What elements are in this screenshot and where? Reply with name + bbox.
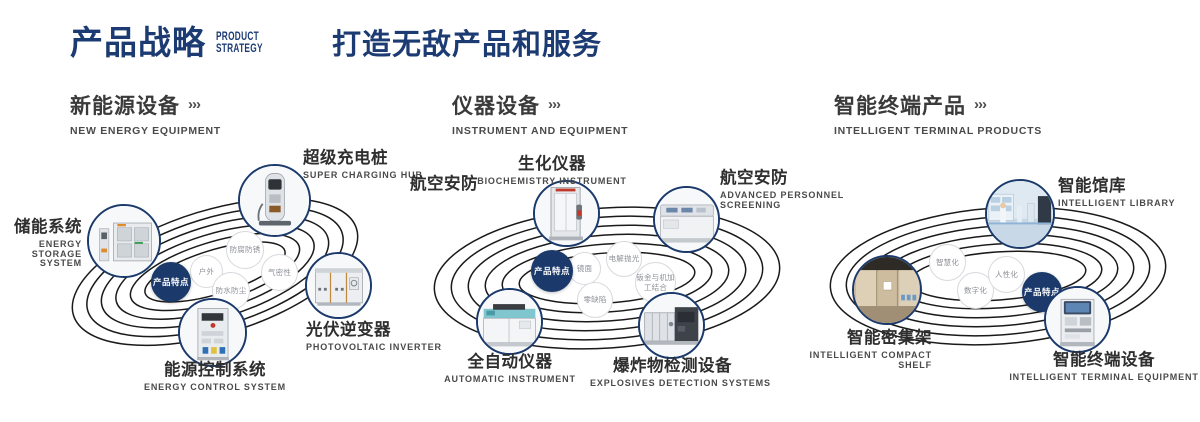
node-label-biochemistry-instrument: 生化仪器 BIOCHEMISTRY INSTRUMENT xyxy=(462,156,642,187)
node-label-en: AUTOMATIC INSTRUMENT xyxy=(430,375,590,385)
node-label-en: INTELLIGENT LIBRARY xyxy=(1058,199,1200,209)
compact-shelving-icon xyxy=(854,257,920,323)
product-strategy-infographic: 产品战略 PRODUCT STRATEGY 打造无敌产品和服务 新能源设备›››… xyxy=(0,0,1200,422)
core-chip: 产品特点 xyxy=(531,250,573,292)
node-label-en: ENERGY CONTROL SYSTEM xyxy=(135,383,295,393)
node-automatic-instrument[interactable] xyxy=(476,288,543,355)
feature-chip: 智慧化 xyxy=(929,244,966,281)
feature-chip: 零缺陷 xyxy=(577,282,613,318)
feature-chip-label: 防水防尘 xyxy=(216,286,247,295)
node-label-cn: 全自动仪器 xyxy=(430,354,590,372)
feature-chip-label: 智慧化 xyxy=(936,258,959,267)
feature-chip-label: 人性化 xyxy=(995,270,1018,279)
security-scanner-gate-icon xyxy=(535,182,598,245)
node-label-intelligent-library: 智能馆库 INTELLIGENT LIBRARY xyxy=(1058,178,1200,209)
feature-chip-label: 气密性 xyxy=(268,268,291,277)
feature-chip: 人性化 xyxy=(988,256,1025,293)
node-label-en: INTELLIGENT TERMINAL EQUIPMENT xyxy=(1008,373,1200,383)
node-energy-storage[interactable] xyxy=(87,204,161,278)
node-label-cn: 智能密集架 xyxy=(790,330,932,348)
node-label-energy-control-system: 能源控制系统 ENERGY CONTROL SYSTEM xyxy=(135,362,295,393)
node-intelligent-terminal-equipment[interactable] xyxy=(1044,286,1111,353)
self-service-kiosk-icon xyxy=(1046,288,1109,351)
node-advanced-personnel-screening[interactable] xyxy=(653,186,720,253)
explosives-detector-icon xyxy=(640,294,703,357)
node-label-intelligent-compact-shelf: 智能密集架 INTELLIGENT COMPACT SHELF xyxy=(790,330,932,370)
core-chip-label: 产品特点 xyxy=(534,266,570,276)
node-label-explosives-detection: 爆炸物检测设备 EXPLOSIVES DETECTION SYSTEMS xyxy=(590,358,755,389)
node-label-en: EXPLOSIVES DETECTION SYSTEMS xyxy=(590,379,755,389)
cluster-new-energy: 户外 防腐防锈 防水防尘 气密性 产品特点 储能系统 ENERGY STOR xyxy=(0,0,420,422)
feature-chip-label: 零缺陷 xyxy=(583,295,606,304)
node-label-cn: 能源控制系统 xyxy=(135,362,295,380)
node-label-intelligent-terminal-equipment: 智能终端设备 INTELLIGENT TERMINAL EQUIPMENT xyxy=(1008,352,1200,383)
feature-chip-label: 数字化 xyxy=(964,286,987,295)
feature-chip-label: 电解抛光 xyxy=(609,254,640,263)
core-chip-label: 产品特点 xyxy=(153,277,189,287)
feature-chip-label: 防腐防锈 xyxy=(230,245,261,254)
automatic-analyzer-icon xyxy=(478,290,541,353)
node-explosives-detection[interactable] xyxy=(638,292,705,359)
cluster-instrument: 镜面 电解抛光 零缺陷 钣金与机加工结合 产品特点 航空安防 生化仪器 BIOC… xyxy=(400,0,820,422)
node-label-cn: 智能馆库 xyxy=(1058,178,1200,196)
node-label-cn: 爆炸物检测设备 xyxy=(590,358,755,376)
feature-chip: 防腐防锈 xyxy=(226,231,264,269)
photovoltaic-inverter-icon xyxy=(307,254,370,317)
node-label-cn: 生化仪器 xyxy=(462,156,642,174)
node-photovoltaic-inverter[interactable] xyxy=(305,252,372,319)
energy-storage-cabinet-icon xyxy=(89,206,159,276)
screening-machine-icon xyxy=(655,188,718,251)
super-charging-pile-icon xyxy=(240,166,309,235)
smart-library-room-icon xyxy=(987,181,1053,247)
feature-chip-label: 户外 xyxy=(199,267,214,276)
node-intelligent-library[interactable] xyxy=(985,179,1055,249)
node-biochemistry-instrument[interactable] xyxy=(533,180,600,247)
node-label-energy-storage: 储能系统 ENERGY STORAGE SYSTEM xyxy=(0,219,82,269)
node-label-en: INTELLIGENT COMPACT SHELF xyxy=(790,351,932,370)
node-label-cn: 储能系统 xyxy=(0,219,82,237)
feature-chip-label: 钣金与机加工结合 xyxy=(636,273,675,291)
energy-control-cabinet-icon xyxy=(180,300,245,365)
node-super-charging-hub[interactable] xyxy=(238,164,311,237)
node-intelligent-compact-shelf[interactable] xyxy=(852,255,922,325)
feature-chip: 气密性 xyxy=(261,254,298,291)
node-label-cn: 智能终端设备 xyxy=(1008,352,1200,370)
feature-chip-label: 镜面 xyxy=(577,264,592,273)
node-label-automatic-instrument: 全自动仪器 AUTOMATIC INSTRUMENT xyxy=(430,354,590,385)
node-energy-control-system[interactable] xyxy=(178,298,247,367)
cluster-intelligent-terminal: 智慧化 数字化 人性化 产品特点 智能馆库 IN xyxy=(790,0,1200,422)
node-label-en: BIOCHEMISTRY INSTRUMENT xyxy=(462,177,642,187)
node-label-en: ENERGY STORAGE SYSTEM xyxy=(0,240,82,269)
